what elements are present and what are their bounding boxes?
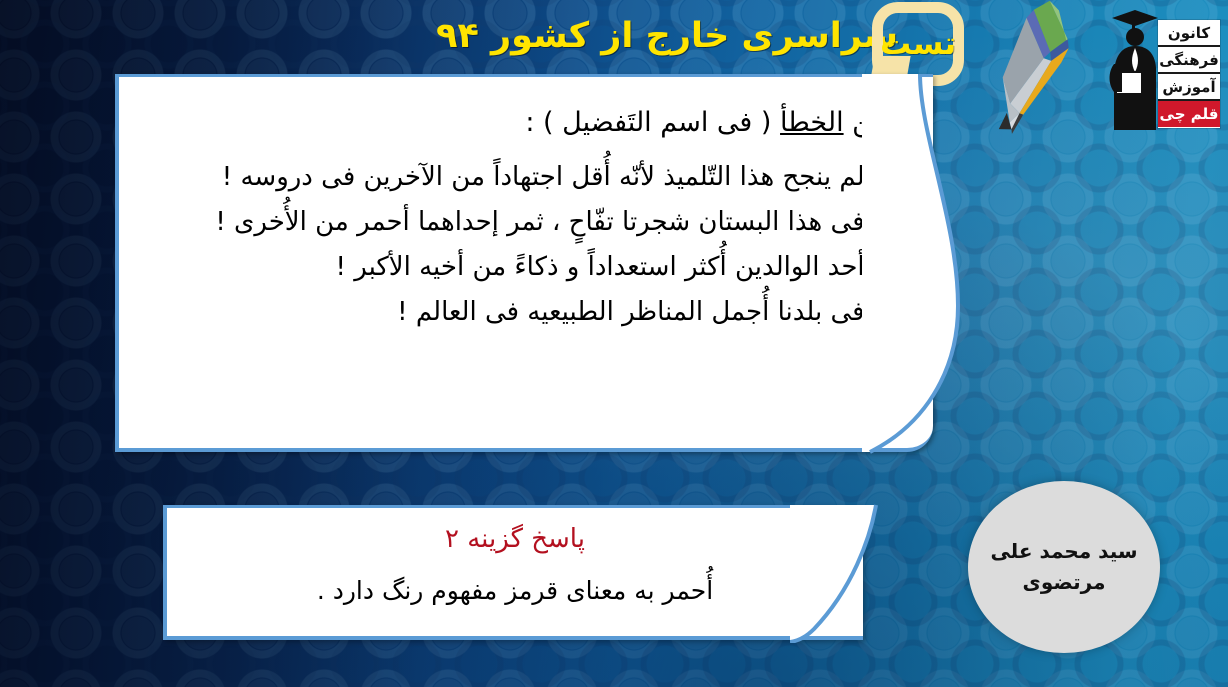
author-line-2: مرتضوی <box>1023 567 1106 598</box>
question-prompt-before: عیّن <box>844 107 897 138</box>
logo-line-2: فرهنگی <box>1158 47 1220 74</box>
page-title: سراسری خارج از کشور ۹۴ <box>436 16 898 56</box>
logo-line-3: آموزش <box>1158 74 1220 101</box>
question-option-1[interactable]: ۱) لم ینجح هذا التّلمیذ لأنّه أُقل اجتها… <box>155 155 897 200</box>
author-badge: سید محمد علی مرتضوی <box>968 481 1160 653</box>
question-card: عیّن الخطأ ( فی اسم التَفضیل ) : ۱) لم ی… <box>115 74 933 452</box>
author-line-1: سید محمد علی <box>990 536 1137 567</box>
header-band: سراسری خارج از کشور ۹۴ تست کانو <box>0 0 1228 72</box>
answer-card: پاسخ گزینه ۲ أُحمر به معنای قرمز مفهوم ر… <box>163 505 863 640</box>
question-option-2[interactable]: ۲) فی هذا البستان شجرتا تفّاحٍ ، ثمر إحد… <box>155 200 897 245</box>
test-badge-label: تست <box>872 2 964 86</box>
question-prompt-after: ( فی اسم التَفضیل ) : <box>525 107 780 138</box>
question-card-inner: عیّن الخطأ ( فی اسم التَفضیل ) : ۱) لم ی… <box>119 77 933 344</box>
test-badge: تست <box>872 2 964 86</box>
question-option-4[interactable]: ۴) فی بلدنا أُجمل المناظر الطبیعیه فی ال… <box>155 290 897 335</box>
logo-brand: قلم چی <box>1158 101 1220 127</box>
logo-line-1: کانون <box>1158 20 1220 47</box>
question-prompt: عیّن الخطأ ( فی اسم التَفضیل ) : <box>155 105 897 141</box>
question-prompt-underlined: الخطأ <box>780 107 844 138</box>
graduate-silhouette-icon <box>1102 2 1164 130</box>
kanoon-logo: کانون فرهنگی آموزش قلم چی <box>1102 2 1220 130</box>
answer-title: پاسخ گزینه ۲ <box>167 524 863 554</box>
answer-explanation: أُحمر به معنای قرمز مفهوم رنگ دارد . <box>167 576 863 605</box>
slide-root: سراسری خارج از کشور ۹۴ تست کانو <box>0 0 1228 687</box>
logo-text-panel: کانون فرهنگی آموزش قلم چی <box>1158 20 1220 128</box>
question-option-3[interactable]: ۳) أحد الوالدین أُکثر استعداداً و ذکاءً … <box>155 245 897 290</box>
